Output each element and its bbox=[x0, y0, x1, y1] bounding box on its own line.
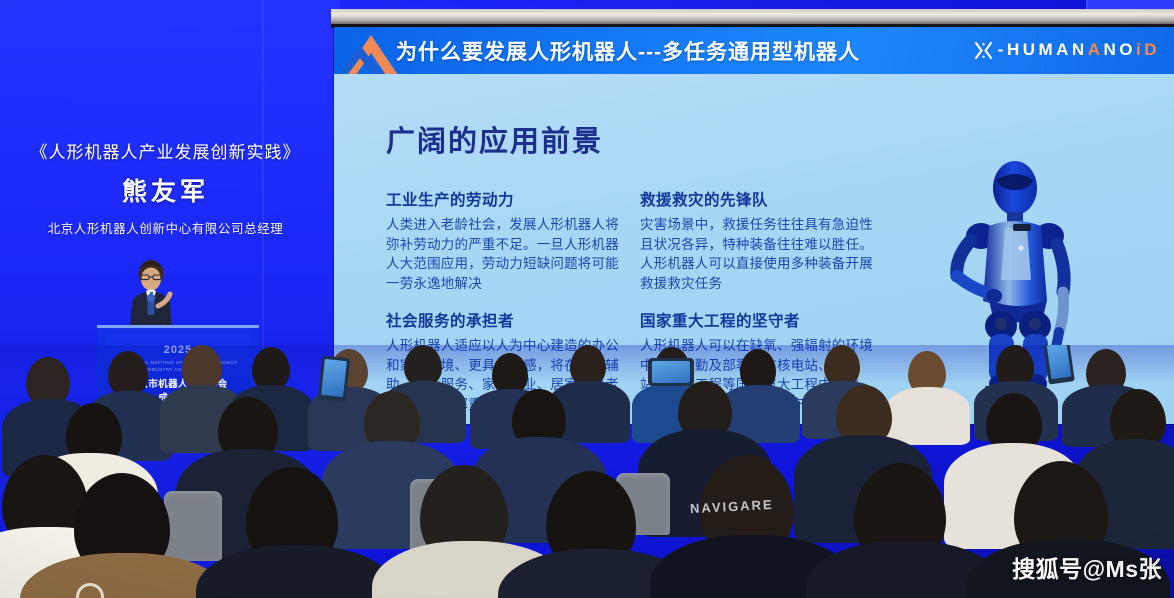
content-block-1: 工业生产的劳动力 人类进入老龄社会，发展人形机器人将弥补劳动力的严重不足。一旦人… bbox=[386, 188, 624, 294]
chair-back bbox=[164, 491, 222, 561]
slide-header-title: 为什么要发展人形机器人---多任务通用型机器人 bbox=[396, 36, 860, 66]
block-heading: 工业生产的劳动力 bbox=[386, 188, 624, 210]
block-heading: 社会服务的承担者 bbox=[386, 309, 624, 331]
screenshot-root: 《人形机器人产业发展创新实践》 熊友军 北京人形机器人创新中心有限公司总经理 2… bbox=[0, 0, 1174, 598]
block-text: 人类进入老龄社会，发展人形机器人将弥补劳动力的严重不足。一旦人形机器人大范围应用… bbox=[386, 215, 624, 294]
audience-body bbox=[886, 387, 970, 445]
caption-speaker-name: 熊友军 bbox=[0, 172, 331, 208]
slide-header-bar: 为什么要发展人形机器人---多任务通用型机器人 -HUMANANOiD bbox=[334, 27, 1174, 74]
x-humanoid-logo-icon: -HUMANANOiD bbox=[974, 40, 1160, 60]
audience-phone-screen bbox=[321, 359, 347, 397]
block-heading: 救援救灾的先锋队 bbox=[640, 188, 878, 210]
projector-screen-frame bbox=[331, 9, 1174, 24]
brand-part-2: NO bbox=[1104, 40, 1137, 59]
content-block-2: 救援救灾的先锋队 灾害场景中，救援任务往往具有急迫性且状况各异，特种装备往往难以… bbox=[640, 188, 878, 294]
watermark: 搜狐号@Ms张 bbox=[1012, 550, 1162, 584]
audience-area: NAVIGARE bbox=[0, 345, 1174, 598]
audience-phone-over-slide-screen bbox=[652, 361, 690, 383]
brand-wordmark: -HUMANANOiD bbox=[998, 40, 1160, 60]
speaker-person bbox=[108, 258, 194, 330]
brand-part-accent: A bbox=[1088, 40, 1104, 59]
caption-topic: 《人形机器人产业发展创新实践》 bbox=[0, 140, 331, 166]
slide-main-title: 广阔的应用前景 bbox=[386, 118, 603, 160]
block-heading: 国家重大工程的坚守者 bbox=[640, 309, 878, 331]
x-mark-icon bbox=[974, 41, 993, 60]
brand-part-1: -HUMAN bbox=[998, 40, 1088, 59]
block-text: 灾害场景中，救援任务往往具有急迫性且状况各异，特种装备往往难以胜任。人形机器人可… bbox=[640, 215, 878, 294]
caption-speaker-title: 北京人形机器人创新中心有限公司总经理 bbox=[0, 218, 331, 237]
audience-phone-screen bbox=[1047, 345, 1072, 379]
blue-chevron-icon bbox=[334, 43, 390, 74]
brand-part-3: iD bbox=[1136, 40, 1160, 59]
session-caption: 《人形机器人产业发展创新实践》 熊友军 北京人形机器人创新中心有限公司总经理 bbox=[0, 140, 331, 237]
